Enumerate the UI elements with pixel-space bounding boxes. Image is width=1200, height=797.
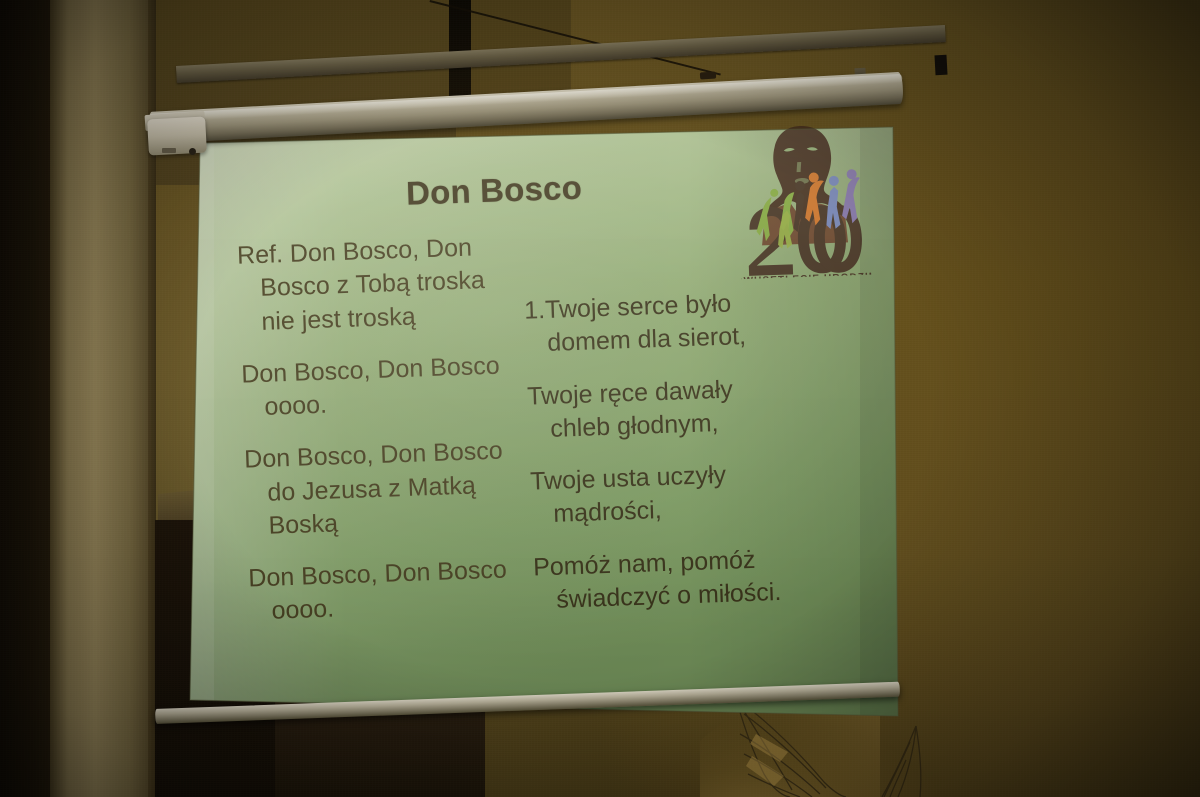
wall-shadow-band-left: [0, 0, 52, 797]
wall-pillar: [50, 0, 150, 797]
screenshot-stage: Don Bosco: [0, 0, 1200, 797]
wall-recess-upper: [156, 0, 456, 185]
wall-recess-block: [471, 0, 571, 96]
wall-right-panel: [880, 0, 1200, 797]
dark-door-slot: [449, 0, 471, 108]
dark-doorway-lower: [155, 520, 275, 797]
dark-doorway-lower-right: [275, 700, 485, 797]
